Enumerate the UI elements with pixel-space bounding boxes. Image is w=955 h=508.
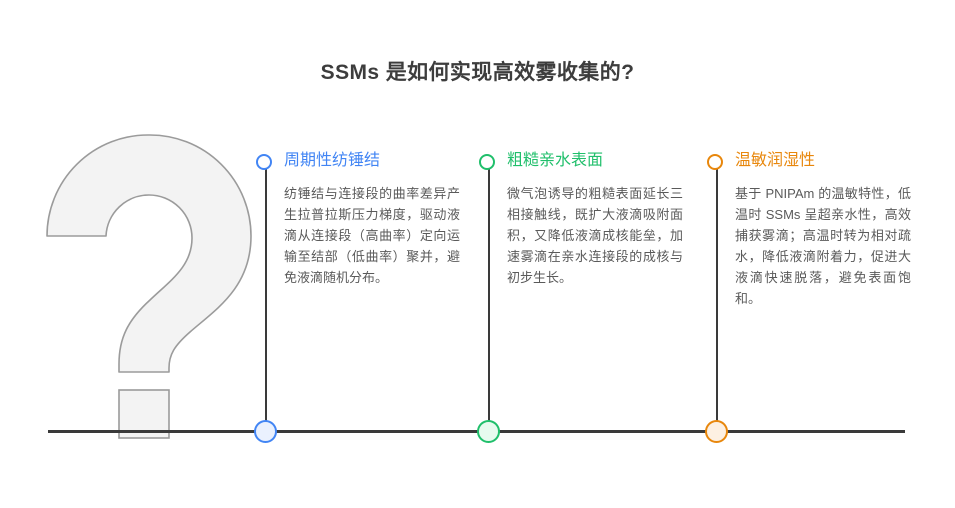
- timeline-node-spindle-knot[interactable]: [254, 420, 277, 443]
- timeline-stem: [488, 168, 490, 432]
- page-title: SSMs 是如何实现高效雾收集的?: [0, 56, 955, 86]
- column-body-text: 纺锤结与连接段的曲率差异产生拉普拉斯压力梯度，驱动液滴从连接段（高曲率）定向运输…: [284, 183, 460, 288]
- timeline-stem: [716, 168, 718, 432]
- timeline-pin-icon[interactable]: [479, 154, 495, 170]
- timeline-pin-icon[interactable]: [707, 154, 723, 170]
- timeline-node-rough-hydrophilic-surface[interactable]: [477, 420, 500, 443]
- column-body-text: 基于 PNIPAm 的温敏特性，低温时 SSMs 呈超亲水性，高效捕获雾滴；高温…: [735, 183, 911, 309]
- column-heading: 周期性纺锤结: [284, 150, 380, 172]
- question-mark-icon: [40, 128, 260, 458]
- timeline-stem: [265, 168, 267, 432]
- column-heading: 温敏润湿性: [735, 150, 815, 172]
- timeline-pin-icon[interactable]: [256, 154, 272, 170]
- timeline-node-thermoresponsive-wettability[interactable]: [705, 420, 728, 443]
- column-body-text: 微气泡诱导的粗糙表面延长三相接触线，既扩大液滴吸附面积，又降低液滴成核能垒，加速…: [507, 183, 683, 288]
- column-heading: 粗糙亲水表面: [507, 150, 603, 172]
- infographic-canvas: SSMs 是如何实现高效雾收集的? 周期性纺锤结 纺锤结与连接段的曲率差异产生拉…: [0, 0, 955, 508]
